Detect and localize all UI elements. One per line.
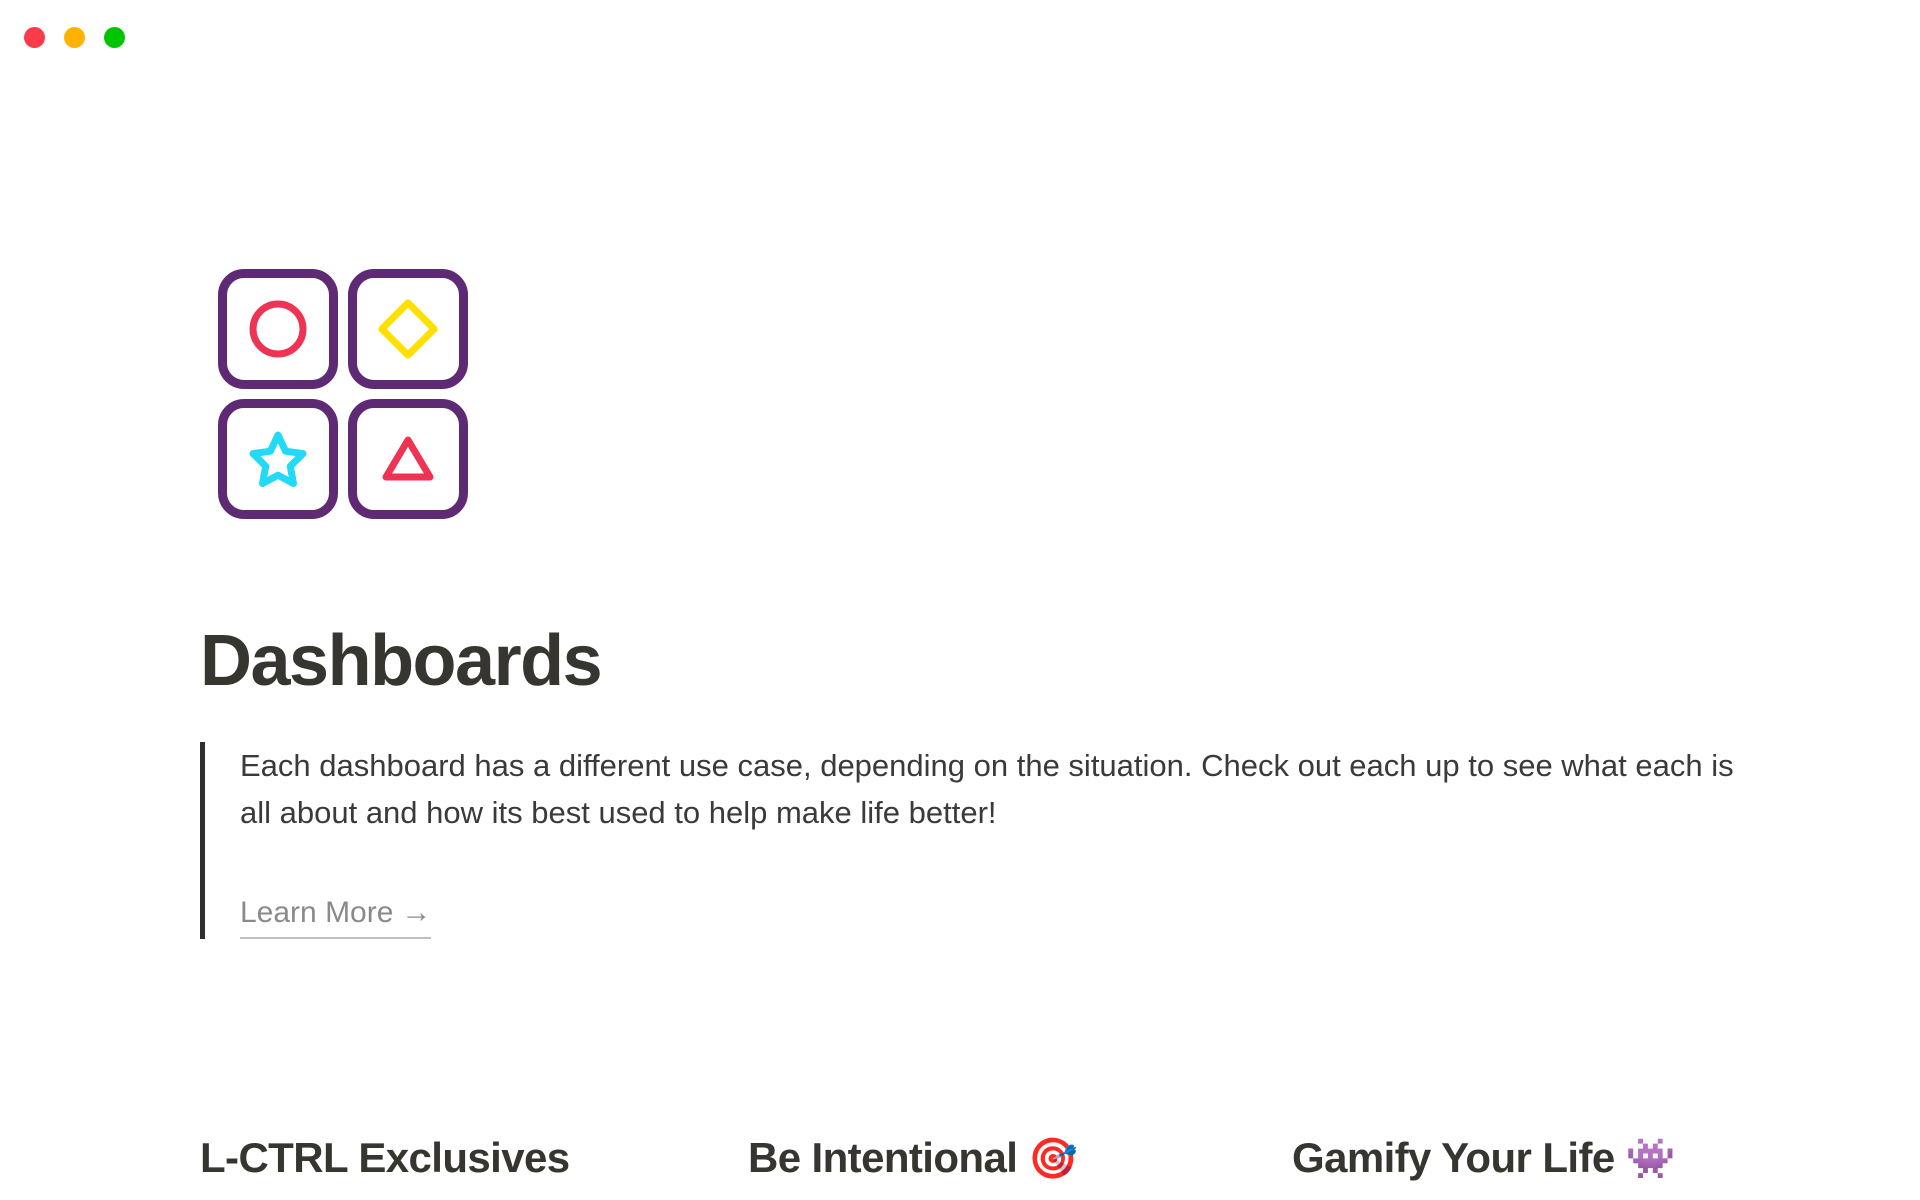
section-heading-gamify-your-life-label: Gamify Your Life bbox=[1292, 1134, 1615, 1181]
traffic-light-controls bbox=[24, 27, 125, 48]
learn-more-label: Learn More bbox=[240, 896, 393, 929]
logo-tile-circle bbox=[218, 269, 338, 389]
app-window: Dashboards Each dashboard has a differen… bbox=[0, 0, 1920, 1200]
window-title-bar bbox=[0, 0, 1920, 74]
arrow-right-icon: → bbox=[401, 896, 431, 929]
diamond-icon bbox=[376, 297, 440, 361]
star-icon bbox=[246, 427, 310, 491]
section-heading-exclusives-label: L-CTRL Exclusives bbox=[200, 1134, 569, 1181]
circle-icon bbox=[246, 297, 310, 361]
minimize-window-button[interactable] bbox=[64, 27, 85, 48]
page-content: Dashboards Each dashboard has a differen… bbox=[0, 74, 1920, 1200]
learn-more-link[interactable]: Learn More→ bbox=[240, 895, 431, 939]
alien-monster-icon: 👾 bbox=[1626, 1137, 1676, 1181]
callout-body-text: Each dashboard has a different use case,… bbox=[240, 742, 1740, 837]
logo-tile-diamond bbox=[348, 269, 468, 389]
section-heading-be-intentional: Be Intentional 🎯 bbox=[748, 1134, 1078, 1182]
close-window-button[interactable] bbox=[24, 27, 45, 48]
triangle-icon bbox=[376, 427, 440, 491]
logo-tile-star bbox=[218, 399, 338, 519]
section-heading-exclusives: L-CTRL Exclusives bbox=[200, 1134, 569, 1182]
logo-tile-triangle bbox=[348, 399, 468, 519]
dashboards-logo bbox=[218, 269, 468, 519]
section-heading-be-intentional-label: Be Intentional bbox=[748, 1134, 1017, 1181]
callout-block: Each dashboard has a different use case,… bbox=[200, 742, 1760, 939]
direct-hit-icon: 🎯 bbox=[1028, 1137, 1078, 1181]
page-title: Dashboards bbox=[200, 625, 601, 697]
section-heading-gamify-your-life: Gamify Your Life 👾 bbox=[1292, 1134, 1675, 1182]
maximize-window-button[interactable] bbox=[104, 27, 125, 48]
